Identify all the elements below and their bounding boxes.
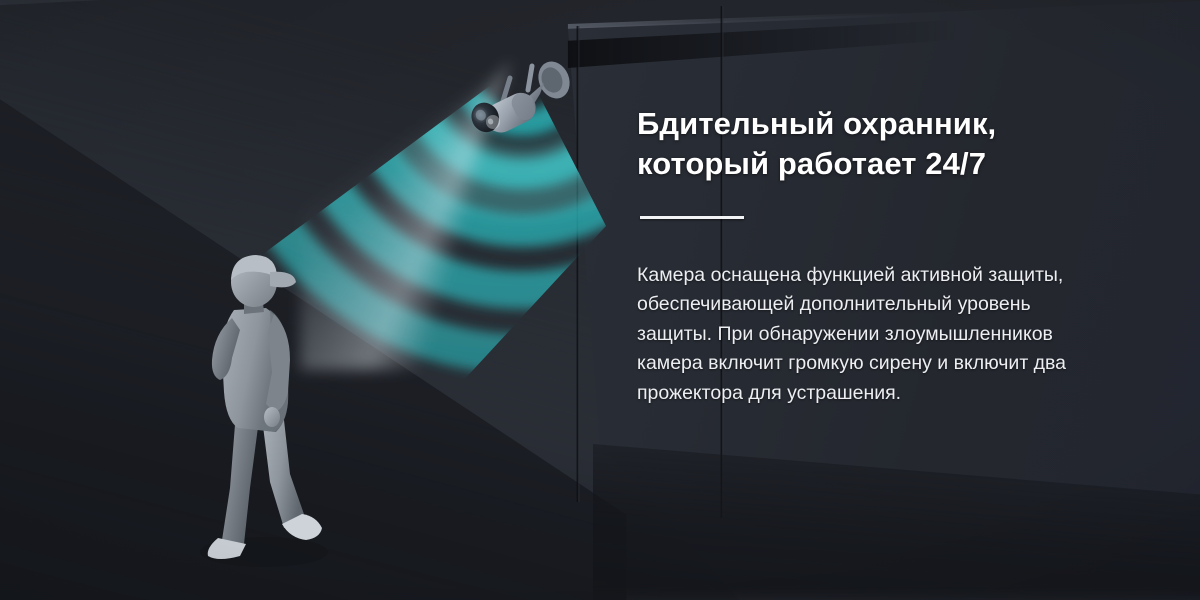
body-description: Камера оснащена функцией активной защиты… <box>637 261 1089 409</box>
text-content: Бдительный охранник, который работает 24… <box>637 104 1089 409</box>
camera-antenna-right <box>528 66 532 90</box>
figure-leg-back <box>222 412 258 544</box>
camera-led-glow <box>486 115 500 129</box>
security-camera-svg <box>470 52 600 162</box>
figure-leg-front <box>262 418 306 528</box>
intruder-figure <box>178 252 353 572</box>
title-divider <box>640 216 744 219</box>
security-camera <box>470 52 600 162</box>
intruder-figure-svg <box>178 252 353 572</box>
page-title: Бдительный охранник, который работает 24… <box>637 104 1089 185</box>
figure-hand-right <box>264 407 280 427</box>
promo-banner: Бдительный охранник, который работает 24… <box>0 0 1200 600</box>
figure-cap-brim <box>270 272 296 288</box>
